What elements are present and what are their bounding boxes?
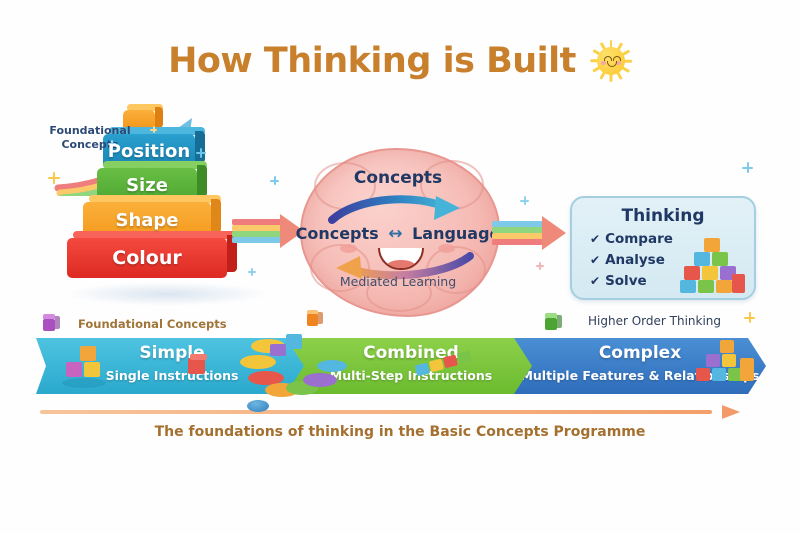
brain-top-label: Concepts [300,168,496,188]
check-icon: ✔ [590,232,605,246]
progress-arrow-head [722,405,740,419]
thinking-item-solve-label: Solve [605,273,647,289]
band-blocks-complex-icon [696,340,758,386]
purple-cube-icon [43,314,60,331]
thinking-item-compare: ✔Compare [590,231,673,247]
footer-caption: The foundations of thinking in the Basic… [0,424,800,440]
building-blocks-icon [680,236,746,294]
band-discs-combined-icon [236,332,356,402]
sparkle-icon [744,312,755,323]
stack-block-colour-label: Colour [112,247,181,269]
page-title-text: How Thinking is Built [168,41,576,81]
stack-shadow [65,282,270,306]
green-cube-icon [545,313,562,330]
foundational-top-line1: Foundational [49,124,130,137]
sparkle-icon [270,176,279,185]
thinking-item-analyse: ✔Analyse [590,252,665,268]
band-beads-icon [414,350,484,386]
thinking-panel: Thinking ✔Compare ✔Analyse ✔Solve [570,196,756,300]
sparkle-icon [248,268,256,276]
sparkle-icon [536,262,544,270]
sun-smiling-icon [590,40,632,82]
brain-middle-left: Concepts [296,224,379,243]
brain-middle-right: Language [412,224,500,243]
sparkle-icon [150,126,157,133]
infographic-canvas: How Thinking is Built [0,0,800,533]
sparkle-icon [742,162,753,173]
stack-block-size-label: Size [126,175,168,196]
foundational-concepts-bottom-label: Foundational Concepts [78,317,227,331]
sparkle-icon [48,172,60,184]
check-icon: ✔ [590,253,605,267]
higher-order-thinking-label: Higher Order Thinking [588,314,721,328]
sparkle-icon [196,148,206,158]
brain-diagram: Concepts Concepts ↔ Language Mediated Le… [300,148,496,313]
brain-bottom-label: Mediated Learning [300,274,496,289]
page-title: How Thinking is Built [0,40,800,82]
orange-cube-icon [307,310,323,326]
progress-arrow-bar [40,410,712,414]
progress-arrow [40,405,740,419]
stack-block-colour: Colour [67,238,227,278]
check-icon: ✔ [590,274,605,288]
rainbow-arrow-right [492,212,572,260]
stack-block-shape-label: Shape [115,210,178,231]
stack-block-position-label: Position [108,141,190,162]
sparkle-icon [520,196,529,205]
thinking-item-solve: ✔Solve [590,273,647,289]
brain-middle-label: Concepts ↔ Language [282,224,514,244]
progression-band: Simple Single Instructions Combined Mult… [36,338,766,394]
progress-arrow-knob [247,400,269,412]
thinking-panel-title: Thinking [572,206,754,226]
bidirectional-arrow-icon: ↔ [384,224,406,244]
thinking-item-analyse-label: Analyse [605,252,665,268]
thinking-item-compare-label: Compare [605,231,673,247]
band-block-red-icon [186,354,212,380]
brain-arrow-top [328,192,468,226]
band-blocks-simple-icon [62,342,122,390]
